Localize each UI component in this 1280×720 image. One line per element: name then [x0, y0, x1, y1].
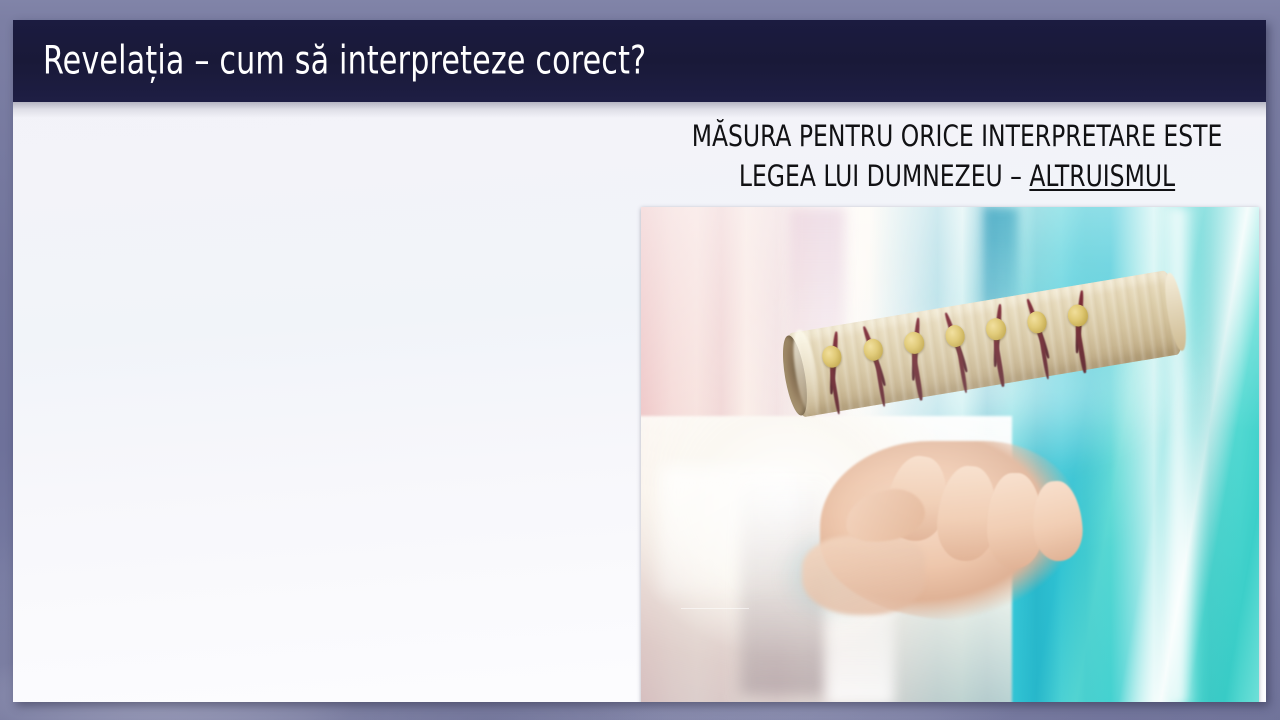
- presentation-slide: Revelația – cum să interpreteze corect? …: [13, 20, 1266, 702]
- slide-title: Revelația – cum să interpreteze corect?: [43, 42, 646, 81]
- robe-fold: [660, 466, 796, 595]
- artist-signature: [681, 593, 749, 609]
- caption-emphasis-altruismul: ALTRUISMUL: [1029, 159, 1175, 193]
- caption-line-2: LEGEA LUI DUMNEZEU – ALTRUISMUL: [673, 156, 1242, 196]
- scroll-illustration: [641, 207, 1259, 702]
- hand-wrist: [802, 536, 926, 616]
- caption-line-2-prefix: LEGEA LUI DUMNEZEU –: [739, 159, 1030, 193]
- slide-title-bar: Revelația – cum să interpreteze corect?: [13, 20, 1266, 102]
- slide-viewer: Revelația – cum să interpreteze corect? …: [0, 0, 1280, 720]
- caption-line-1: MĂSURA PENTRU ORICE INTERPRETARE ESTE: [673, 116, 1242, 156]
- caption-text-block: MĂSURA PENTRU ORICE INTERPRETARE ESTE LE…: [641, 116, 1266, 196]
